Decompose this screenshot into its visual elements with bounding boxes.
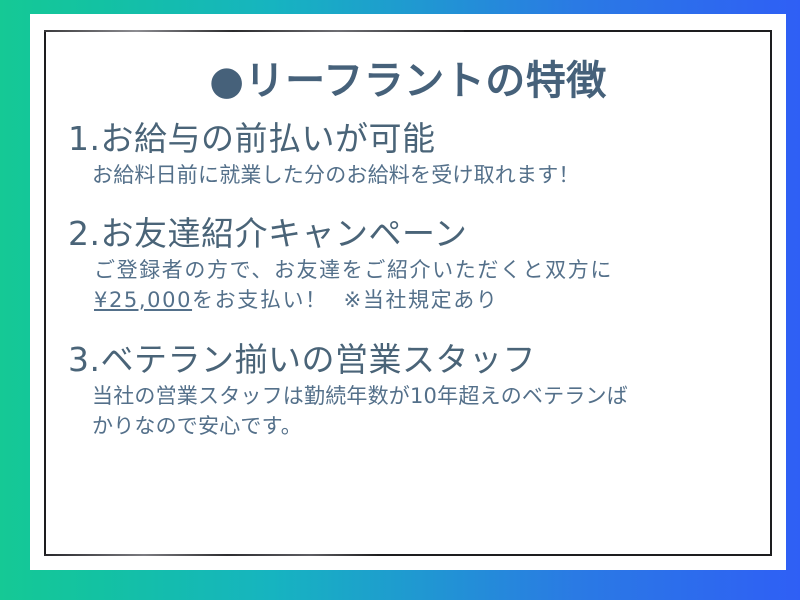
poster-content: ●リーフラントの特徴 1.お給与の前払いが可能 お給料日前に就業した分のお給料を… [46,32,770,442]
poster-card: ●リーフラントの特徴 1.お給与の前払いが可能 お給料日前に就業した分のお給料を… [30,14,786,570]
feature-3-heading: 3.ベテラン揃いの営業スタッフ [68,341,748,380]
feature-3-body: 当社の営業スタッフは勤続年数が10年超えのベテランば かりなので安心です。 [68,382,748,442]
feature-2-line-1: ご登録者の方で、お友達をご紹介いただくと双方に [94,256,748,286]
poster-gradient-frame: ●リーフラントの特徴 1.お給与の前払いが可能 お給料日前に就業した分のお給料を… [0,0,800,600]
feature-1-heading: 1.お給与の前払いが可能 [68,120,748,159]
feature-1-line-1: お給料日前に就業した分のお給料を受け取れます！ [92,161,748,191]
page-title: ●リーフラントの特徴 [68,48,748,106]
feature-3-line-1: 当社の営業スタッフは勤続年数が10年超えのベテランば [92,382,748,412]
feature-2-heading: 2.お友達紹介キャンペーン [68,215,748,254]
referral-note: ※当社規定あり [344,288,499,312]
referral-amount: ¥25,000 [94,288,192,312]
feature-1-body: お給料日前に就業した分のお給料を受け取れます！ [68,161,748,191]
feature-item-3: 3.ベテラン揃いの営業スタッフ 当社の営業スタッフは勤続年数が10年超えのベテラ… [68,341,748,442]
referral-amount-suffix: をお支払い！ [192,288,328,312]
feature-2-line-2: ¥25,000をお支払い！※当社規定あり [94,286,748,316]
feature-2-body: ご登録者の方で、お友達をご紹介いただくと双方に ¥25,000をお支払い！※当社… [68,256,748,316]
feature-item-1: 1.お給与の前払いが可能 お給料日前に就業した分のお給料を受け取れます！ [68,120,748,191]
feature-3-line-2: かりなので安心です。 [92,412,748,442]
feature-item-2: 2.お友達紹介キャンペーン ご登録者の方で、お友達をご紹介いただくと双方に ¥2… [68,215,748,316]
